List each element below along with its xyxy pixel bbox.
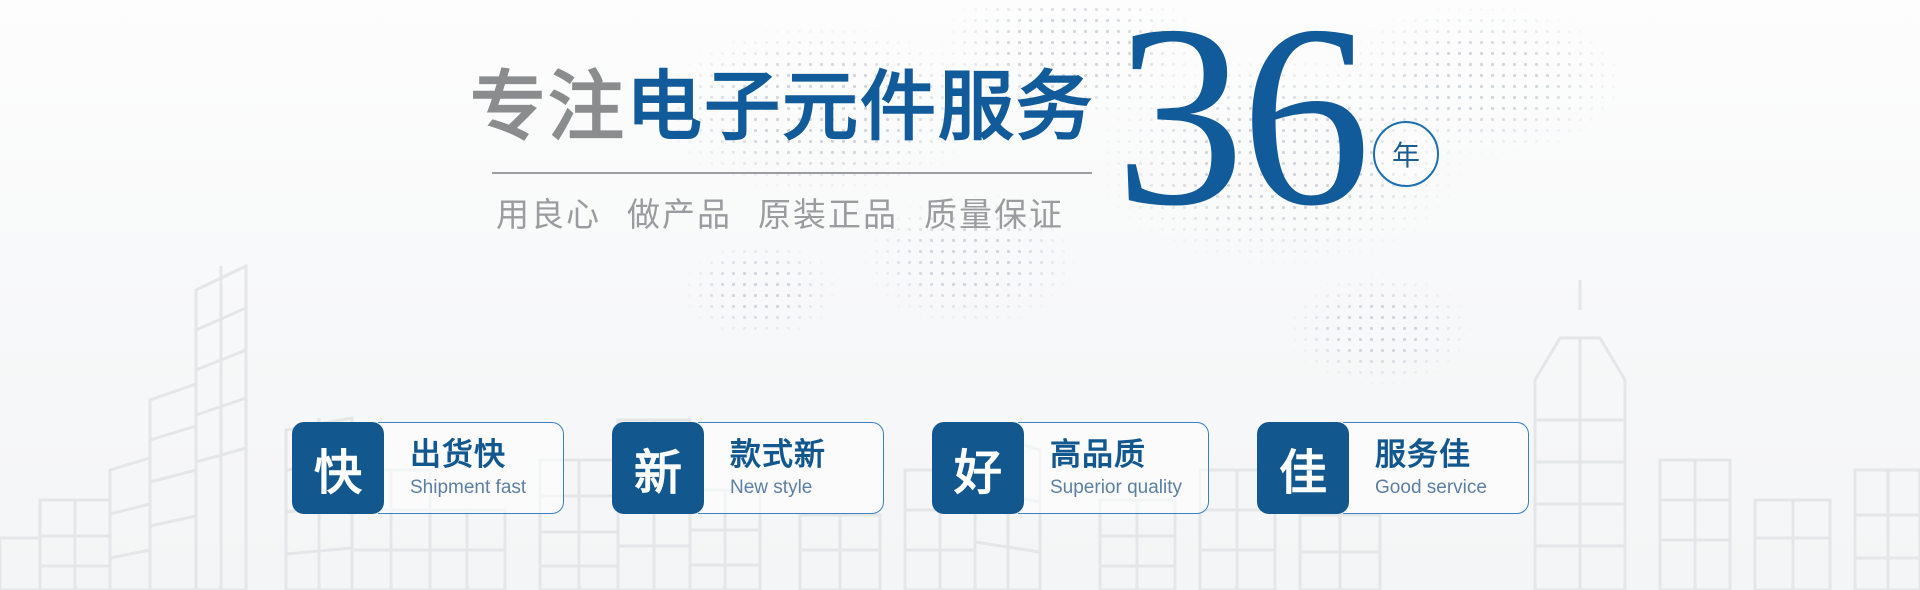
feature-title-cn: 款式新: [730, 437, 857, 473]
headline-gray-text: 专注: [470, 65, 626, 150]
subtitle-item-1: 做产品: [627, 196, 732, 233]
feature-card-new-style[interactable]: 新 款式新 New style: [612, 422, 884, 514]
feature-card-shipment-fast[interactable]: 快 出货快 Shipment fast: [292, 422, 564, 514]
feature-title-cn: 高品质: [1050, 437, 1182, 473]
feature-badge-char: 快: [292, 422, 384, 514]
feature-card-body: 服务佳 Good service: [1343, 422, 1529, 514]
page-title: 专注电子元件服务: [470, 70, 1170, 146]
feature-title-cn: 出货快: [410, 437, 537, 473]
feature-card-list: 快 出货快 Shipment fast 新 款式新 New style 好 高品…: [292, 422, 1529, 514]
years-number: 36: [1115, 10, 1367, 223]
feature-card-body: 出货快 Shipment fast: [378, 422, 564, 514]
feature-badge-char: 新: [612, 422, 704, 514]
feature-badge-char: 好: [932, 422, 1024, 514]
feature-title-en: Good service: [1375, 477, 1502, 499]
feature-card-body: 高品质 Superior quality: [1018, 422, 1209, 514]
headline-blue-text: 电子元件服务: [626, 65, 1094, 150]
promo-banner: 专注电子元件服务 用良心做产品原装正品质量保证 36 年 快 出货快 Shipm…: [0, 0, 1920, 590]
feature-badge-char: 佳: [1257, 422, 1349, 514]
subtitle-item-2: 原装正品: [758, 196, 898, 233]
feature-card-body: 款式新 New style: [698, 422, 884, 514]
feature-card-good-service[interactable]: 佳 服务佳 Good service: [1257, 422, 1529, 514]
subtitle-item-3: 质量保证: [924, 196, 1064, 233]
years-unit-badge: 年: [1373, 121, 1439, 187]
years-highlight: 36 年: [1115, 10, 1439, 223]
feature-title-cn: 服务佳: [1375, 437, 1502, 473]
subtitle-item-0: 用良心: [496, 196, 601, 233]
subtitle: 用良心做产品原装正品质量保证: [496, 188, 1170, 236]
feature-title-en: Superior quality: [1050, 477, 1182, 499]
feature-title-en: Shipment fast: [410, 477, 537, 499]
feature-card-superior-quality[interactable]: 好 高品质 Superior quality: [932, 422, 1209, 514]
headline-divider: [492, 172, 1092, 174]
feature-title-en: New style: [730, 477, 857, 499]
headline-block: 专注电子元件服务 用良心做产品原装正品质量保证: [470, 70, 1170, 236]
